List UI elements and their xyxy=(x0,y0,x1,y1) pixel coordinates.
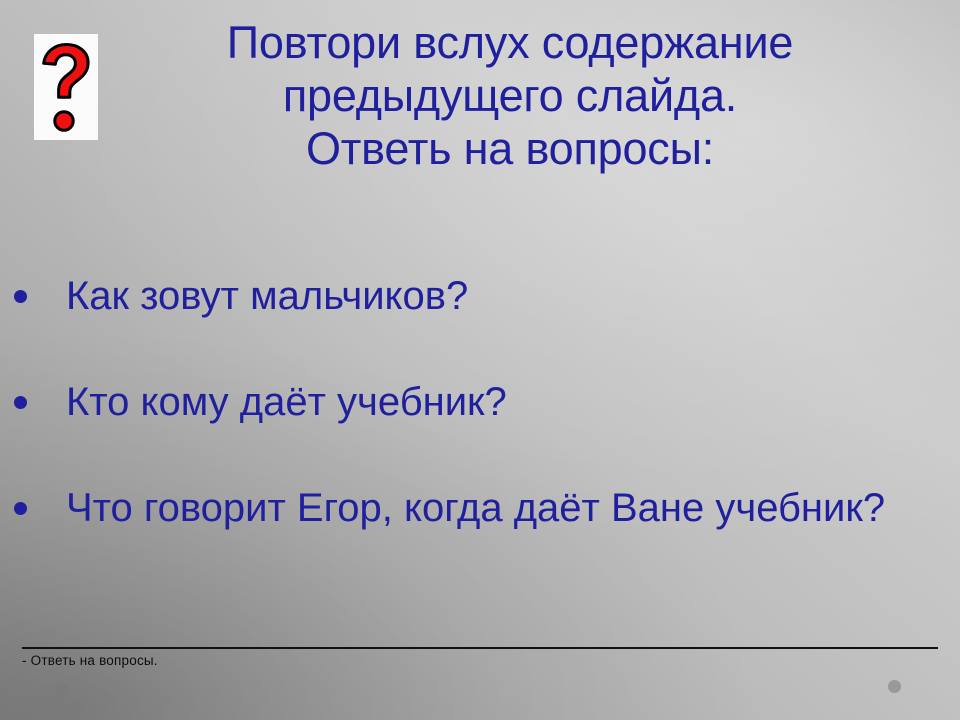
bullet-dot-icon xyxy=(14,290,27,303)
footer-divider xyxy=(22,647,938,649)
list-item: Как зовут мальчиков? xyxy=(0,272,960,320)
slide-canvas: Повтори вслух содержание предыдущего сла… xyxy=(0,0,960,720)
bullet-dot-icon xyxy=(14,502,27,515)
title-line-3: Ответь на вопросы: xyxy=(100,122,920,175)
title-line-2: предыдущего слайда. xyxy=(100,69,920,122)
title-line-1: Повтори вслух содержание xyxy=(100,16,920,69)
slide-title: Повтори вслух содержание предыдущего сла… xyxy=(100,16,920,175)
list-item-label: Кто кому даёт учебник? xyxy=(66,378,952,426)
question-mark-image xyxy=(34,34,98,140)
list-item-label: Что говорит Егор, когда даёт Ване учебни… xyxy=(66,484,940,532)
question-list: Как зовут мальчиков? Кто кому даёт учебн… xyxy=(0,272,960,532)
list-item-label: Как зовут мальчиков? xyxy=(66,272,952,320)
question-mark-icon xyxy=(40,41,92,133)
decorative-dot-right xyxy=(888,680,901,693)
list-item: Кто кому даёт учебник? xyxy=(0,378,960,426)
list-item: Что говорит Егор, когда даёт Ване учебни… xyxy=(0,484,960,532)
bullet-dot-icon xyxy=(14,396,27,409)
footer-note: - Ответь на вопросы. xyxy=(22,652,158,670)
decorative-dot-left xyxy=(56,682,69,695)
